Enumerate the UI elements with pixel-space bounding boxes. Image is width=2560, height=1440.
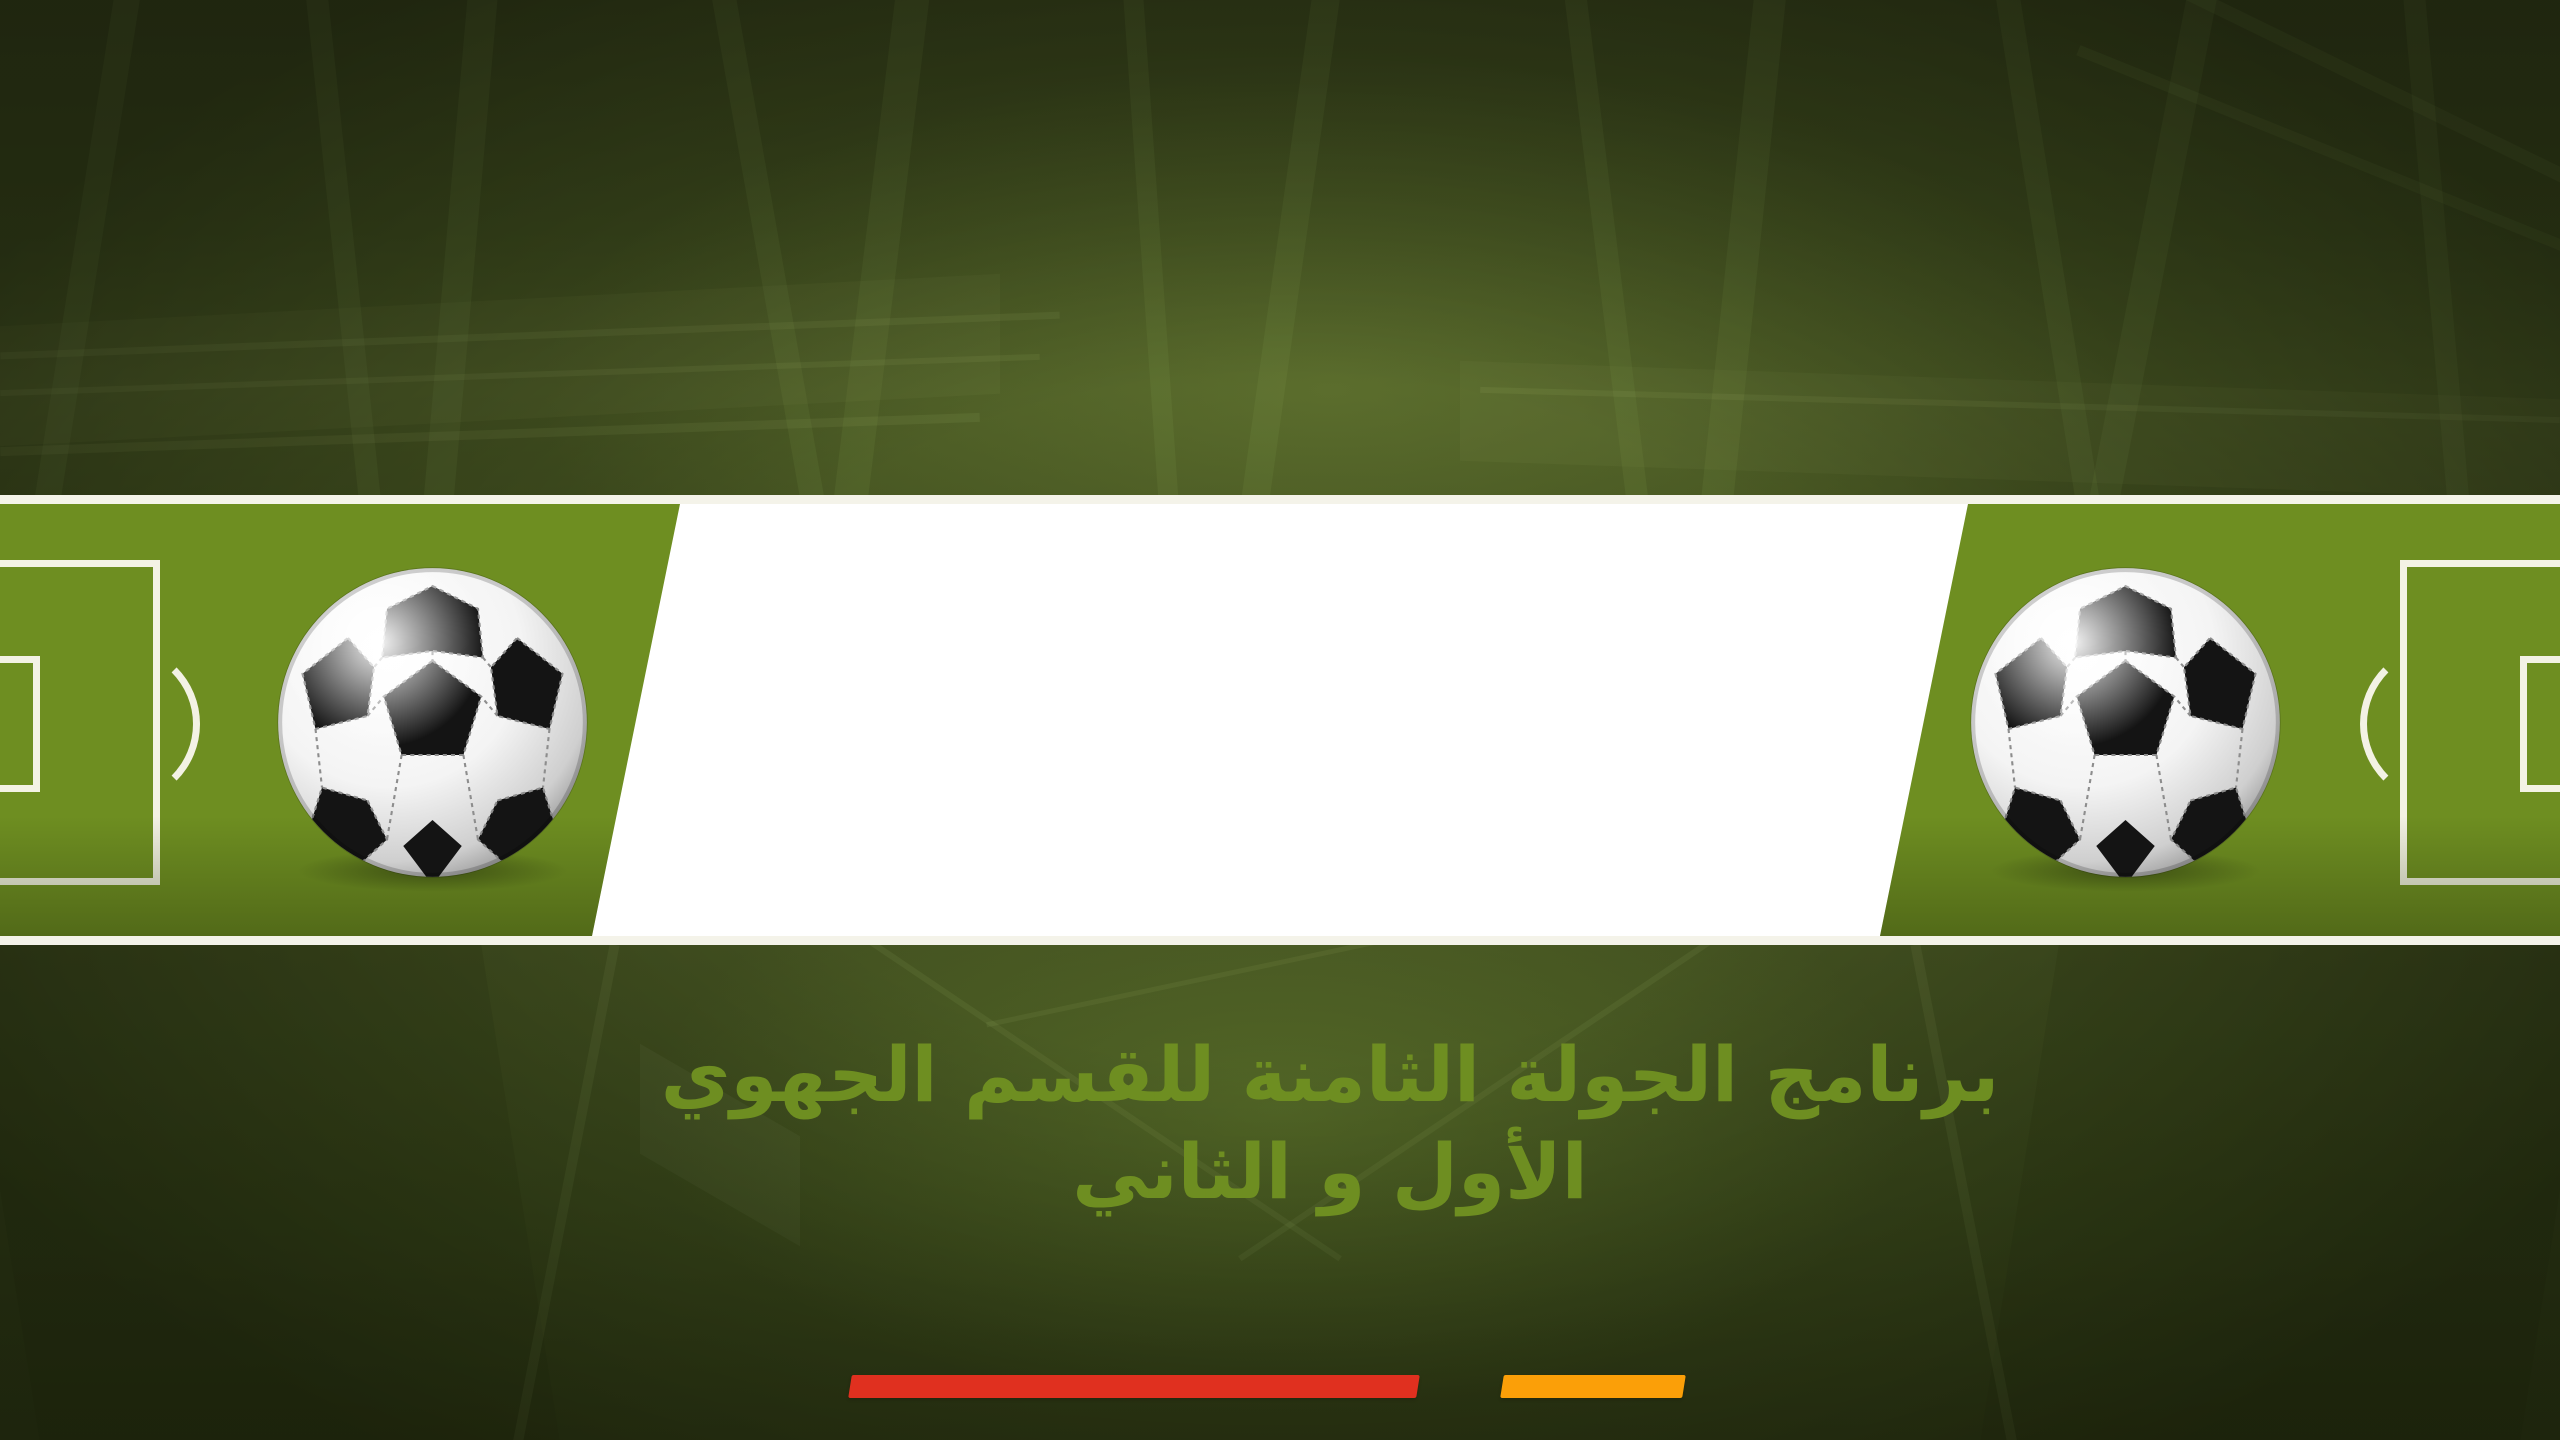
right-pitch-graphic — [1880, 504, 2560, 936]
penalty-arc-marking — [40, 644, 200, 804]
title-band: برنامج الجولة الثامنة للقسم الجهوي الأول… — [0, 495, 2560, 945]
title-line-1: برنامج الجولة الثامنة للقسم الجهوي — [661, 1026, 2000, 1123]
goal-box-marking — [0, 656, 40, 792]
band-top-rule — [0, 495, 2560, 504]
band-bottom-rule — [0, 936, 2560, 945]
red-accent-bar — [848, 1375, 1420, 1398]
title-line-2: الأول و الثاني — [1072, 1123, 1588, 1220]
soccer-ball-icon — [270, 560, 595, 885]
stadium-roof-background-image — [0, 0, 2560, 500]
left-pitch-graphic — [0, 504, 680, 936]
left-soccer-ball — [270, 560, 595, 885]
slide-title: برنامج الجولة الثامنة للقسم الجهوي الأول… — [660, 1000, 2000, 1430]
accent-bars — [840, 1375, 1700, 1401]
right-soccer-ball — [1963, 560, 2288, 885]
soccer-ball-icon — [1963, 560, 2288, 885]
goal-box-marking — [2520, 656, 2560, 792]
orange-accent-bar — [1500, 1375, 1686, 1398]
penalty-arc-marking — [2360, 644, 2520, 804]
presentation-slide: برنامج الجولة الثامنة للقسم الجهوي الأول… — [0, 0, 2560, 1440]
